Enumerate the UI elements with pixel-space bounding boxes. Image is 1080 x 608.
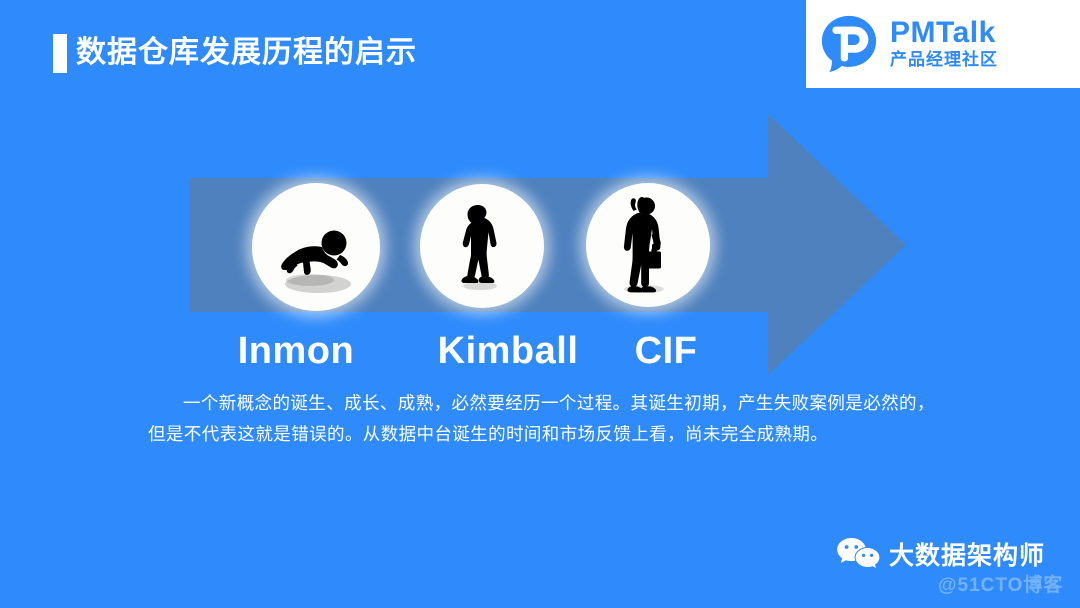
crawling-baby-silhouette-icon [252,183,380,311]
body-paragraph: 一个新概念的诞生、成长、成熟，必然要经历一个过程。其诞生初期，产生失败案例是必然… [148,388,938,450]
presentation-slide: 数据仓库发展历程的启示 PMTalk 产品经理社区 [0,0,1080,608]
stage-label-cif: CIF [596,330,736,373]
pmtalk-speech-bubble-icon [818,13,880,75]
footer-brand: 大数据架构师 [835,536,1045,572]
stage-circle-inmon [252,183,380,311]
stage-circle-cif [586,183,710,307]
standing-child-silhouette-icon [420,184,544,308]
stage-circle-kimball [420,184,544,308]
stage-label-kimball: Kimball [408,330,608,373]
pmtalk-logo-panel: PMTalk 产品经理社区 [806,0,1080,88]
stage-label-inmon: Inmon [198,330,394,373]
logo-title: PMTalk [890,17,998,49]
businessman-with-briefcase-silhouette-icon [586,183,710,307]
footer-brand-label: 大数据架构师 [889,536,1045,572]
pmtalk-logo-text: PMTalk 产品经理社区 [890,17,998,71]
site-watermark: @51CTO博客 [938,570,1063,597]
logo-subtitle: 产品经理社区 [890,49,998,71]
wechat-icon [835,536,881,572]
title-accent-bar [53,34,67,73]
page-title: 数据仓库发展历程的启示 [76,33,417,73]
